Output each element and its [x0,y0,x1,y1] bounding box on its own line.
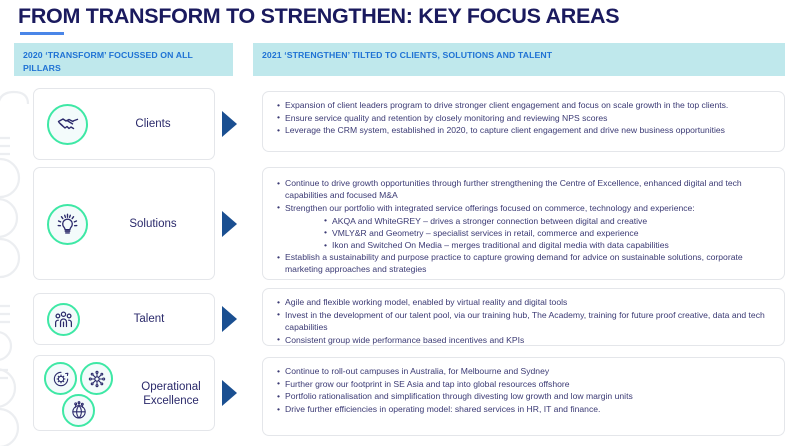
column-header-left: 2020 ‘TRANSFORM’ FOCUSSED ON ALL PILLARS [14,43,233,76]
list-item: AKQA and WhiteGREY – drives a stronger c… [323,215,772,227]
bullet-list-talent: Agile and flexible working model, enable… [276,296,772,346]
list-item: Agile and flexible working model, enable… [276,296,772,308]
list-item: Continue to roll-out campuses in Austral… [276,365,772,377]
list-item: Drive further efficiencies in operating … [276,403,772,415]
pillar-card-clients[interactable]: Clients [33,88,215,160]
flow-arrow-clients [222,111,237,137]
bullet-list-clients: Expansion of client leaders program to d… [276,99,772,137]
list-item: Establish a sustainability and purpose p… [276,251,772,275]
list-item: Further grow our footprint in SE Asia an… [276,378,772,390]
list-item: Leverage the CRM system, established in … [276,124,772,136]
detail-card-talent: Agile and flexible working model, enable… [262,288,785,346]
pillar-label-operational-excellence: Operational Excellence [130,356,212,432]
title-accent-rule [20,32,64,35]
sub-bullet-list-solutions: AKQA and WhiteGREY – drives a stronger c… [276,215,772,252]
detail-card-clients: Expansion of client leaders program to d… [262,91,785,152]
flow-arrow-operational-excellence [222,380,237,406]
pillar-card-talent[interactable]: Talent [33,293,215,345]
list-item: Portfolio rationalisation and simplifica… [276,390,772,402]
bullet-list-solutions-after: Establish a sustainability and purpose p… [276,251,772,275]
lightbulb-icon [47,204,88,245]
bullet-list-operational-excellence: Continue to roll-out campuses in Austral… [276,365,772,415]
list-item: Consistent group wide performance based … [276,334,772,346]
pillar-label-clients: Clients [92,117,214,131]
people-group-icon [47,303,80,336]
gear-orbit-icon [44,362,77,395]
column-header-right: 2021 ‘STRENGTHEN’ TILTED TO CLIENTS, SOL… [253,43,785,76]
pillar-card-operational-excellence[interactable]: Operational Excellence [33,355,215,431]
flow-arrow-solutions [222,211,237,237]
hub-network-icon [80,362,113,395]
page-title: FROM TRANSFORM TO STRENGTHEN: KEY FOCUS … [18,4,619,29]
slide-canvas: FROM TRANSFORM TO STRENGTHEN: KEY FOCUS … [0,0,800,446]
list-item: Continue to drive growth opportunities t… [276,177,772,201]
list-item: Invest in the development of our talent … [276,309,772,333]
globe-network-icon [62,394,95,427]
list-item: VMLY&R and Geometry – specialist service… [323,227,772,239]
pillar-label-solutions: Solutions [92,217,214,231]
flow-arrow-talent [222,306,237,332]
list-item: Ensure service quality and retention by … [276,112,772,124]
pillar-card-solutions[interactable]: Solutions [33,167,215,280]
list-item: Strengthen our portfolio with integrated… [276,202,772,214]
list-item: Expansion of client leaders program to d… [276,99,772,111]
detail-card-operational-excellence: Continue to roll-out campuses in Austral… [262,357,785,436]
list-item: Ikon and Switched On Media – merges trad… [323,239,772,251]
pillar-label-talent: Talent [84,312,214,326]
detail-card-solutions: Continue to drive growth opportunities t… [262,167,785,280]
bullet-list-solutions: Continue to drive growth opportunities t… [276,177,772,214]
handshake-icon [47,104,88,145]
